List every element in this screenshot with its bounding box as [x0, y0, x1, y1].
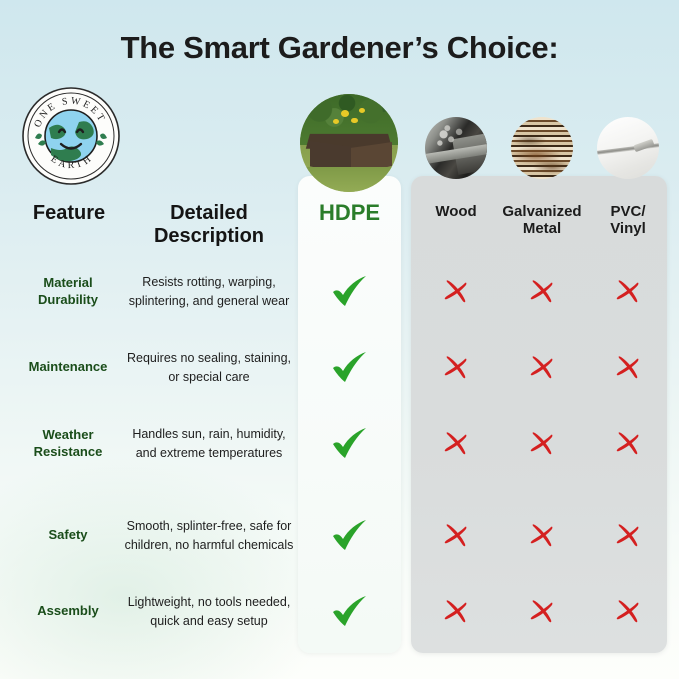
table-row: WeatherResistance Handles sun, rain, hum…: [0, 406, 679, 481]
check-icon: [330, 427, 370, 461]
column-header-wood: Wood: [413, 203, 499, 220]
cross-icon: [528, 598, 556, 626]
table-row: MaterialDurability Resists rotting, warp…: [0, 254, 679, 329]
column-header-hdpe-label: HDPE: [319, 200, 380, 225]
row-description: Requires no sealing, staining, or specia…: [124, 330, 294, 405]
page-title: The Smart Gardener’s Choice:: [0, 30, 679, 66]
cross-icon: [442, 430, 470, 458]
cell-pvc-cross: [585, 254, 671, 329]
row-description: Resists rotting, warping, splintering, a…: [124, 254, 294, 329]
cell-metal-cross: [499, 574, 585, 649]
column-header-pvc-label-line2: Vinyl: [610, 220, 646, 237]
row-description: Lightweight, no tools needed, quick and …: [124, 574, 294, 649]
cell-hdpe-check: [307, 574, 393, 649]
galvanized-metal-product-image: [511, 117, 573, 179]
cross-icon: [614, 354, 642, 382]
cell-hdpe-check: [307, 254, 393, 329]
column-header-galvanized-metal: Galvanized Metal: [499, 203, 585, 238]
cell-pvc-cross: [585, 574, 671, 649]
cell-wood-cross: [413, 330, 499, 405]
row-feature-line1: Safety: [48, 527, 87, 542]
check-icon: [330, 275, 370, 309]
row-feature-line2: Durability: [38, 292, 98, 307]
table-row: Assembly Lightweight, no tools needed, q…: [0, 574, 679, 649]
cell-hdpe-check: [307, 406, 393, 481]
cross-icon: [614, 278, 642, 306]
row-feature-label: Assembly: [8, 574, 128, 649]
hdpe-product-image: [300, 94, 398, 192]
cell-pvc-cross: [585, 498, 671, 573]
row-feature-line1: Assembly: [37, 603, 98, 618]
pvc-vinyl-product-image: [597, 117, 659, 179]
cell-pvc-cross: [585, 406, 671, 481]
cross-icon: [614, 430, 642, 458]
cross-icon: [528, 278, 556, 306]
column-header-wood-label: Wood: [435, 203, 476, 220]
feature-column-header: Feature: [14, 202, 124, 225]
column-header-metal-label: Galvanized: [502, 203, 581, 220]
cross-icon: [528, 354, 556, 382]
column-header-metal-label-line2: Metal: [523, 220, 561, 237]
cell-wood-cross: [413, 254, 499, 329]
cell-metal-cross: [499, 330, 585, 405]
table-row: Safety Smooth, splinter-free, safe for c…: [0, 498, 679, 573]
cell-pvc-cross: [585, 330, 671, 405]
row-feature-line2: Resistance: [34, 444, 103, 459]
row-feature-label: WeatherResistance: [8, 406, 128, 481]
description-header-line1: Detailed: [170, 202, 248, 224]
row-feature-line1: Material: [43, 275, 92, 290]
table-row: Maintenance Requires no sealing, stainin…: [0, 330, 679, 405]
cell-wood-cross: [413, 406, 499, 481]
brand-logo: ONE SWEET EARTH: [21, 86, 121, 186]
cross-icon: [614, 522, 642, 550]
cross-icon: [442, 522, 470, 550]
row-feature-line1: Weather: [42, 427, 93, 442]
check-icon: [330, 519, 370, 553]
wood-product-image: [425, 117, 487, 179]
cross-icon: [442, 354, 470, 382]
cell-metal-cross: [499, 254, 585, 329]
cell-wood-cross: [413, 498, 499, 573]
cross-icon: [614, 598, 642, 626]
check-icon: [330, 351, 370, 385]
one-sweet-earth-logo-icon: ONE SWEET EARTH: [21, 86, 121, 186]
cross-icon: [442, 278, 470, 306]
description-column-header: Detailed Description: [134, 202, 284, 248]
row-feature-label: Maintenance: [8, 330, 128, 405]
column-header-pvc-vinyl: PVC/ Vinyl: [585, 203, 671, 238]
row-feature-line1: Maintenance: [29, 359, 108, 374]
cell-metal-cross: [499, 406, 585, 481]
column-header-hdpe: HDPE: [298, 200, 401, 225]
comparison-infographic: The Smart Gardener’s Choice: ONE SWEET E…: [0, 0, 679, 679]
row-feature-label: Safety: [8, 498, 128, 573]
cell-metal-cross: [499, 498, 585, 573]
cell-hdpe-check: [307, 498, 393, 573]
row-description: Handles sun, rain, humidity, and extreme…: [124, 406, 294, 481]
column-header-pvc-label: PVC/: [610, 203, 645, 220]
description-header-line2: Description: [154, 225, 264, 247]
cross-icon: [528, 430, 556, 458]
row-description: Smooth, splinter-free, safe for children…: [124, 498, 294, 573]
cell-hdpe-check: [307, 330, 393, 405]
cross-icon: [442, 598, 470, 626]
check-icon: [330, 595, 370, 629]
cell-wood-cross: [413, 574, 499, 649]
cross-icon: [528, 522, 556, 550]
row-feature-label: MaterialDurability: [8, 254, 128, 329]
